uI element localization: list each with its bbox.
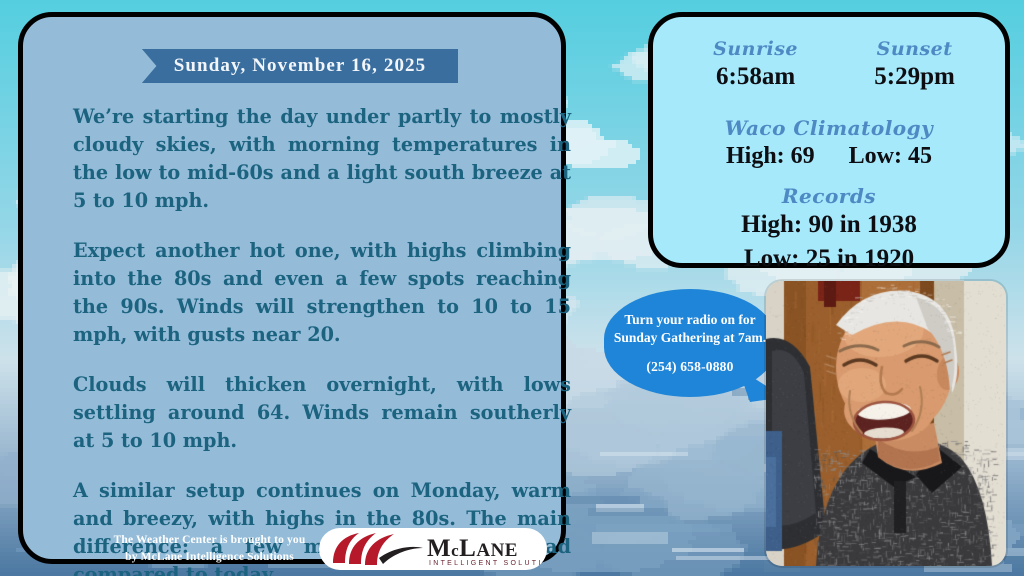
climatology-block: Waco Climatology High: 69 Low: 45 xyxy=(653,117,1005,170)
records-label: Records xyxy=(653,185,1005,207)
sponsor-credit: The Weather Center is brought to you by … xyxy=(97,532,322,565)
date-banner: Sunday, November 16, 2025 xyxy=(142,49,458,83)
records-block: Records High: 90 in 1938 Low: 25 in 1920 xyxy=(653,185,1005,275)
forecast-paragraph-2: Expect another hot one, with highs climb… xyxy=(73,237,571,349)
sponsor-credit-line-2: by McLane Intelligence Solutions xyxy=(97,549,322,566)
sunset-label: Sunset xyxy=(874,39,955,60)
climatology-high: High: 69 xyxy=(726,143,815,170)
host-photo-canvas xyxy=(766,281,1006,566)
logo-tagline: INTELLIGENT SOLUTIONS xyxy=(429,560,547,567)
logo-wordmark: McLANE xyxy=(427,535,518,562)
mclane-logo-artwork: McLANE INTELLIGENT SOLUTIONS xyxy=(319,528,547,570)
forecast-text: We’re starting the day under partly to m… xyxy=(73,103,571,576)
host-photo xyxy=(766,281,1006,566)
sponsor-credit-line-1: The Weather Center is brought to you xyxy=(97,532,322,549)
mclane-logo: McLANE INTELLIGENT SOLUTIONS xyxy=(319,528,547,570)
radio-promo-phone: (254) 658-0880 xyxy=(646,359,733,375)
date-banner-label: Sunday, November 16, 2025 xyxy=(174,55,427,77)
sunset-block: Sunset 5:29pm xyxy=(874,39,955,91)
radio-promo-bubble: Turn your radio on for Sunday Gathering … xyxy=(604,289,776,397)
sunset-value: 5:29pm xyxy=(874,63,955,91)
climatology-label: Waco Climatology xyxy=(653,117,1005,139)
sunrise-label: Sunrise xyxy=(713,39,798,60)
weather-graphic: Sunday, November 16, 2025 We’re starting… xyxy=(0,0,1024,576)
forecast-paragraph-1: We’re starting the day under partly to m… xyxy=(73,103,571,215)
sun-times-row: Sunrise 6:58am Sunset 5:29pm xyxy=(675,39,993,91)
climatology-low: Low: 45 xyxy=(849,143,932,170)
radio-promo-message: Turn your radio on for Sunday Gathering … xyxy=(604,311,776,346)
record-high: High: 90 in 1938 xyxy=(653,209,1005,241)
record-low: Low: 25 in 1920 xyxy=(653,243,1005,275)
sunrise-block: Sunrise 6:58am xyxy=(713,39,798,91)
logo-swoosh-group xyxy=(333,533,423,565)
sunrise-value: 6:58am xyxy=(713,63,798,91)
forecast-panel: Sunday, November 16, 2025 We’re starting… xyxy=(18,12,566,564)
forecast-paragraph-3: Clouds will thicken overnight, with lows… xyxy=(73,371,571,455)
climate-panel: Sunrise 6:58am Sunset 5:29pm Waco Climat… xyxy=(648,12,1010,268)
